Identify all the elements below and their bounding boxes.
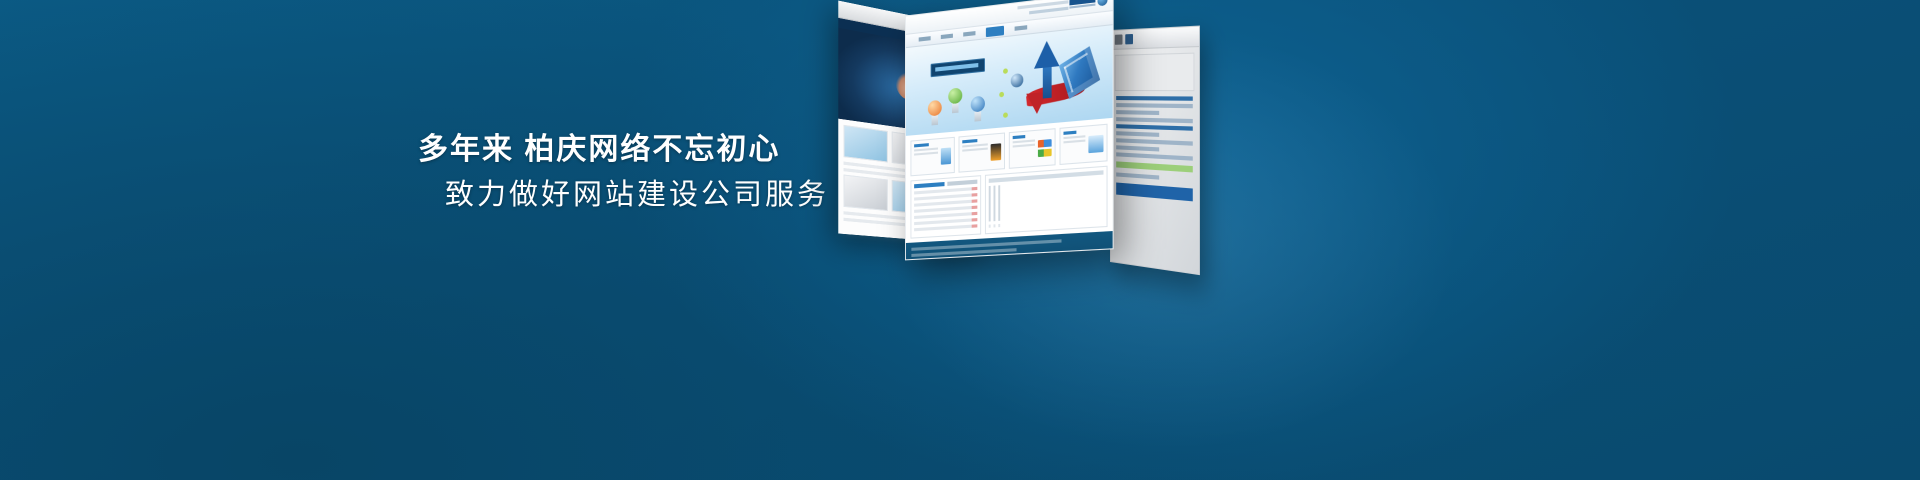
portfolio-thumbnail[interactable]: [989, 186, 991, 222]
portfolio-caption: [998, 224, 1000, 227]
service-card[interactable]: [1008, 128, 1055, 169]
card-icon: [1088, 134, 1103, 152]
highlight-bar: [1116, 161, 1193, 172]
globe-icon: [1011, 73, 1024, 88]
portfolio-panel: [985, 166, 1108, 235]
orange-sphere-icon: [928, 100, 942, 117]
toolbar-right: [1111, 27, 1199, 50]
nav-item[interactable]: [941, 34, 953, 39]
logo-mark-icon: [1097, 0, 1107, 6]
website-screenshot-right[interactable]: [1110, 26, 1200, 276]
card-icon: [1038, 139, 1052, 157]
service-card[interactable]: [910, 137, 955, 177]
service-card[interactable]: [959, 133, 1005, 173]
text-line: [1116, 145, 1159, 151]
grid-icon: [1115, 34, 1123, 44]
portfolio-caption: [993, 224, 995, 227]
text-line: [1116, 124, 1193, 131]
blue-sphere-icon: [971, 96, 985, 113]
news-list-panel: [910, 175, 981, 239]
service-card[interactable]: [1059, 124, 1107, 165]
portfolio-row: [989, 178, 1104, 228]
blue-arrow-stem: [1043, 64, 1052, 99]
document-icon: [1125, 34, 1133, 44]
nav-item[interactable]: [963, 31, 975, 37]
screenshot-showcase: [820, 0, 1520, 480]
footer-bar-right: [1116, 182, 1193, 201]
text-line: [1116, 131, 1159, 137]
blue-arrow-up-icon: [1034, 40, 1060, 69]
text-line: [1116, 96, 1193, 101]
portfolio-thumbnail[interactable]: [993, 186, 995, 222]
site-logo[interactable]: [1069, 0, 1107, 10]
portfolio-caption: [989, 225, 991, 228]
hero-headline-badge: [931, 58, 985, 77]
orb-stand: [932, 115, 938, 126]
product-thumb[interactable]: [843, 174, 887, 211]
orb-stand: [952, 102, 959, 113]
card-icon: [941, 147, 951, 164]
orb-stand: [975, 111, 982, 122]
bullet-dot-icon: [1003, 112, 1008, 118]
tagline-text-secondary: [1029, 7, 1068, 15]
text-line: [1116, 172, 1159, 179]
news-item[interactable]: [914, 224, 977, 231]
bullet-dot-icon: [999, 92, 1004, 98]
text-line: [1116, 138, 1193, 145]
footer-cta-button[interactable]: [1084, 255, 1106, 260]
bullet-dot-icon: [1003, 68, 1008, 74]
product-thumb[interactable]: [843, 125, 887, 163]
text-line: [1116, 103, 1193, 108]
text-line: [1116, 152, 1193, 160]
card-icon: [990, 143, 1001, 161]
website-screenshot-main[interactable]: [905, 0, 1114, 260]
nav-item[interactable]: [1015, 25, 1028, 31]
header-block-right: [1115, 53, 1195, 92]
text-line: [1116, 110, 1159, 115]
nav-item[interactable]: [919, 36, 931, 41]
portfolio-thumbnail[interactable]: [998, 185, 1000, 221]
nav-item-active[interactable]: [986, 25, 1004, 36]
green-sphere-icon: [948, 87, 962, 104]
text-line: [1116, 117, 1193, 123]
hero-banner: 多年来 柏庆网络不忘初心 致力做好网站建设公司服务: [0, 0, 1920, 480]
